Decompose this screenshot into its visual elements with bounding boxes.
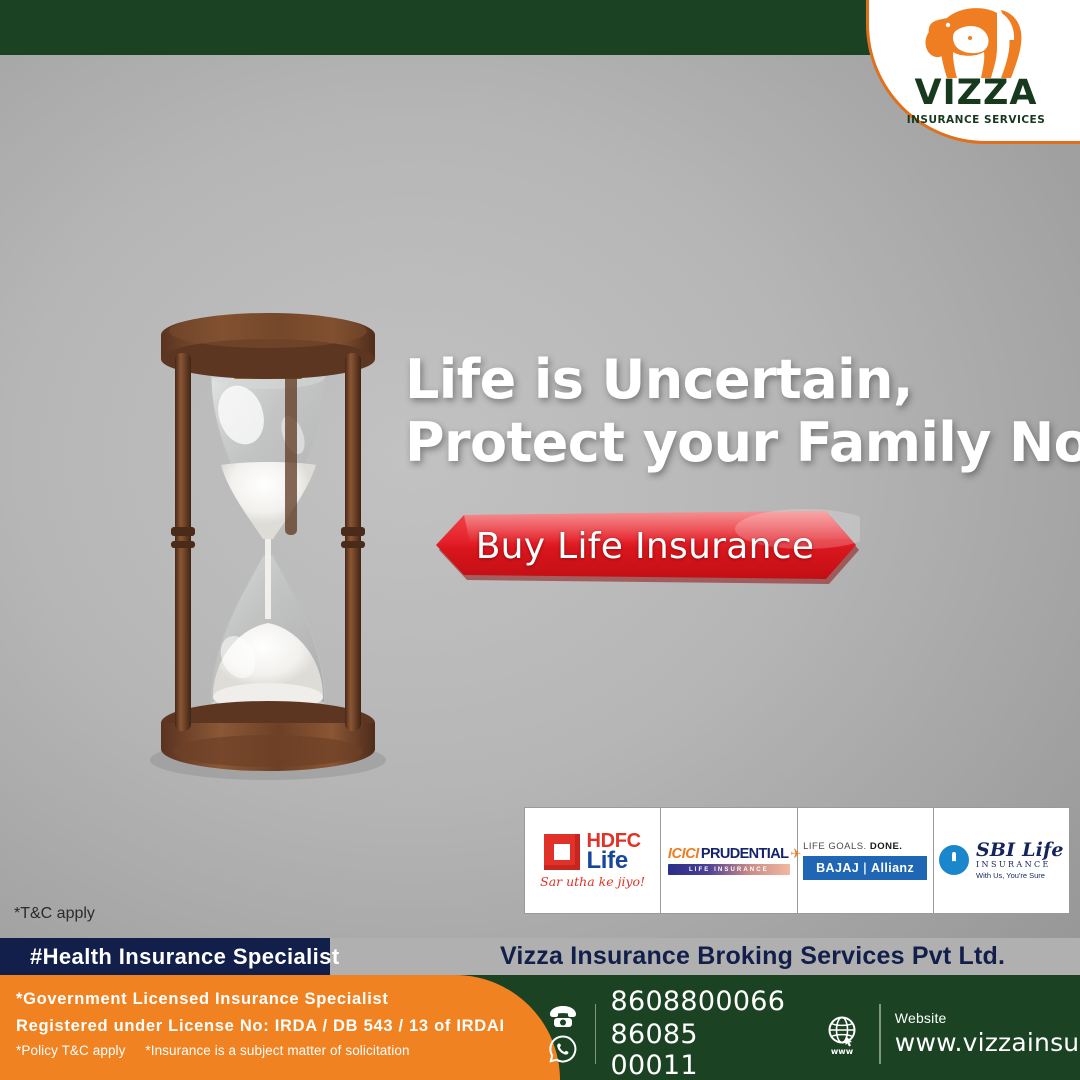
company-logo[interactable]: VIZZA INSURANCE SERVICES bbox=[886, 6, 1066, 140]
icici-bar-text: LIFE INSURANCE bbox=[689, 867, 769, 873]
headline-line-1: Life is Uncertain, bbox=[405, 348, 1075, 411]
contact-divider bbox=[595, 1004, 597, 1064]
bajaj-separator: | bbox=[863, 861, 867, 875]
partner-logos-panel: HDFC Life Sar utha ke jiyo! ICICI PRUDEN… bbox=[524, 807, 1070, 914]
sbi-word-2: INSURANCE bbox=[976, 861, 1064, 869]
hero-headline: Life is Uncertain, Protect your Family N… bbox=[405, 348, 1075, 474]
partner-logo-hdfc-life[interactable]: HDFC Life Sar utha ke jiyo! bbox=[525, 808, 661, 913]
partner-logo-icici-prudential[interactable]: ICICI PRUDENTIAL ✈ LIFE INSURANCE bbox=[661, 808, 797, 913]
phone-icon bbox=[548, 1004, 578, 1028]
logo-tagline-text: INSURANCE SERVICES bbox=[907, 114, 1046, 126]
partner-logo-sbi-life[interactable]: SBI Life INSURANCE With Us, You're Sure bbox=[934, 808, 1069, 913]
svg-text:www: www bbox=[831, 1047, 854, 1056]
top-banner-bar bbox=[0, 0, 892, 55]
icici-word-2: PRUDENTIAL bbox=[701, 846, 788, 862]
tc-apply-note: *T&C apply bbox=[14, 905, 95, 923]
bajaj-tagline: LIFE GOALS. DONE. bbox=[803, 841, 927, 852]
cta-label: Buy Life Insurance bbox=[430, 505, 860, 587]
whatsapp-number[interactable]: 86085 00011 bbox=[610, 1019, 786, 1080]
footer: #Health Insurance Specialist Vizza Insur… bbox=[0, 938, 1080, 1080]
sbi-tagline: With Us, You're Sure bbox=[976, 872, 1064, 880]
website-label: Website bbox=[895, 1010, 1080, 1026]
whatsapp-icon[interactable] bbox=[549, 1035, 577, 1063]
hourglass-image bbox=[133, 305, 403, 785]
sbi-word-1: SBI Life bbox=[976, 841, 1064, 861]
footer-hashtag: #Health Insurance Specialist bbox=[0, 938, 450, 975]
website-url[interactable]: www.vizzainsurance.com bbox=[895, 1028, 1080, 1057]
solicitation-note: *Insurance is a subject matter of solici… bbox=[145, 1043, 409, 1058]
icici-word-1: ICICI bbox=[668, 846, 699, 862]
sbi-keyhole-icon bbox=[939, 845, 969, 875]
bajaj-tagline-bold: DONE. bbox=[870, 841, 903, 852]
hdfc-tagline: Sar utha ke jiyo! bbox=[540, 874, 645, 889]
headline-line-2: Protect your Family Now bbox=[405, 411, 1075, 474]
advertisement-poster: Life Insurance Specialist VIZZA INSURANC… bbox=[0, 0, 1080, 1080]
globe-icon: www bbox=[819, 1011, 865, 1057]
license-line-2: Registered under License No: IRDA / DB 5… bbox=[16, 1017, 505, 1036]
bajaj-word-2: Allianz bbox=[871, 861, 914, 875]
hdfc-word-2: Life bbox=[586, 850, 640, 872]
policy-note: *Policy T&C apply bbox=[16, 1043, 126, 1058]
bajaj-word-1: BAJAJ bbox=[816, 861, 859, 875]
partner-logo-bajaj-allianz[interactable]: LIFE GOALS. DONE. BAJAJ | Allianz bbox=[798, 808, 934, 913]
license-line-1: *Government Licensed Insurance Specialis… bbox=[16, 990, 505, 1009]
logo-brand-text: VIZZA bbox=[915, 76, 1038, 111]
footer-company-name: Vizza Insurance Broking Services Pvt Ltd… bbox=[500, 938, 1080, 975]
bajaj-tagline-light: LIFE GOALS. bbox=[803, 841, 867, 852]
elephant-icon bbox=[917, 6, 1035, 80]
website-divider bbox=[879, 1004, 881, 1064]
contact-info: 8608800066 86085 00011 www Website www.v… bbox=[546, 986, 1080, 1080]
buy-life-insurance-button[interactable]: Buy Life Insurance bbox=[430, 505, 860, 587]
license-info: *Government Licensed Insurance Specialis… bbox=[16, 990, 505, 1058]
hdfc-square-icon bbox=[544, 834, 580, 870]
license-notes: *Policy T&C apply *Insurance is a subjec… bbox=[16, 1043, 505, 1058]
bajaj-allianz-icon: BAJAJ | Allianz bbox=[803, 856, 927, 880]
phone-number[interactable]: 8608800066 bbox=[610, 986, 786, 1017]
icici-subtitle-bar: LIFE INSURANCE bbox=[668, 864, 790, 875]
